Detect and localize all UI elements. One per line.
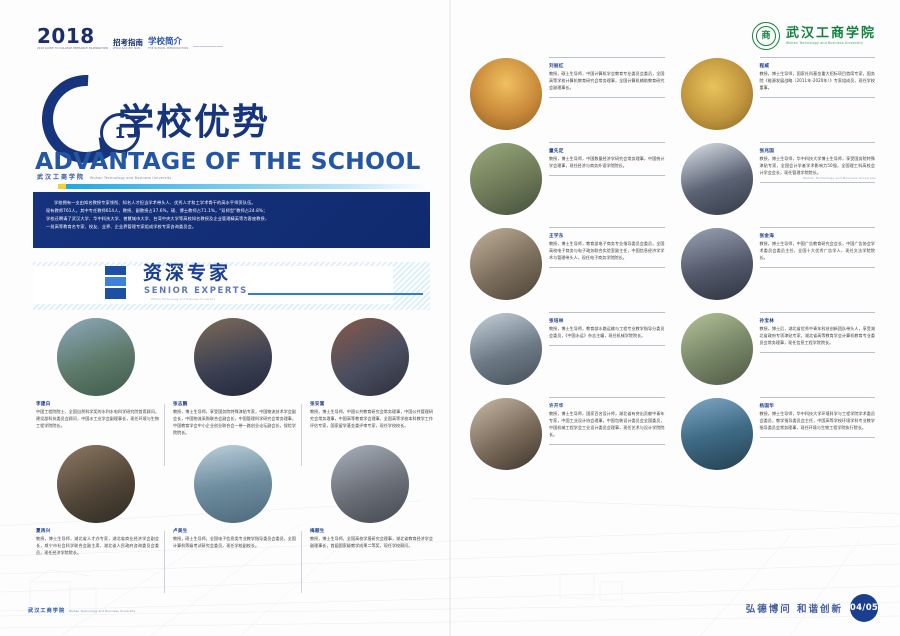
running-head-label-1: 招考指南 — [113, 39, 143, 47]
seal-character: 商 — [761, 32, 770, 41]
running-head-label-1-sub: ZHAO KAO ZHI NAN — [113, 47, 143, 50]
accent-bar — [58, 184, 430, 189]
expert-card: 张金海 教授，博士生导师，中国广告教育研究会会长，中国广告协会学术委员会委员主任… — [681, 228, 876, 300]
book-icon — [105, 266, 132, 300]
expert-card: 夏再兴 教授，博士生导师，湖北省人才办专家，湖北省商业经济学会副会长，咸宁市社会… — [33, 445, 159, 557]
expert-card: 张志鹏 教授，博士生导师，享受国务院特殊津贴专家，中国物流技术学会副会长，中国物… — [170, 318, 296, 437]
expert-card: 王学东 教授，博士生导师，教育部电子商务专业指导委员会委员，全国高校电子商务与电… — [470, 228, 665, 300]
expert-bio: 教授，博士生导师，中国数量经济学研究会常务理事，中国统计学会理事，现任经济与商务… — [549, 156, 665, 170]
expert-card: 孙宝林 教授，博士后，湖北省优秀中青年科技创新团队带头人，享受湖北省政府专项津贴… — [681, 313, 876, 385]
expert-bio: 教授，博士生导师，中国公共教育研究会常务理事，中国公共管理研究会常务理事，中国高… — [310, 409, 433, 430]
expert-name: 夏再兴 — [36, 528, 159, 534]
card-divider — [164, 404, 165, 466]
brochure-page: 2018 2018 GUIDE TO COLLEGE ENTRANCE EXAM… — [0, 0, 900, 636]
page-title-sub-cn: 武汉工商学院 — [37, 172, 85, 181]
expert-card: 卢美生 教授，硕士生导师，全国电子信息类专业教学指导委员会委员，全国计算机等级考… — [170, 445, 296, 557]
expert-bio: 教授，博士生导师，华中科技大学博士生导师，享受国务院特殊津贴专家，全国会计学者学… — [760, 156, 876, 177]
expert-photo — [470, 58, 542, 130]
expert-photo — [194, 445, 272, 523]
footer-slogan: 弘德博问 和谐创新 — [746, 601, 843, 615]
running-head-year: 2018 — [37, 26, 108, 46]
expert-card: 杨国华 教授，博士生导师，华中科技大学环境科学与工程学院学术委员会委员，教学指导… — [681, 398, 876, 470]
expert-card: 李建白 中国工程院院士、全国自然科学奖的水利水电科学研究院首席顾问，建设部科技委… — [33, 318, 159, 437]
footer-left: 武汉工商学院 Wuhan Technology and Business Uni… — [28, 607, 135, 614]
section-header-senior-experts: 资深专家 SENIOR EXPERTS Wuhan Technology and… — [33, 262, 430, 310]
expert-card: 程威 教授，博士生导师，国家社科基金重大招标项目首席专家，国务院《能源发展战略（… — [681, 58, 876, 130]
university-name-cn: 武汉工商学院 — [786, 27, 876, 40]
accent-bar-yellow — [58, 184, 66, 189]
intro-panel: 学校拥有一支由知名教授专家领衔、知名人才担当学术带头人、优秀人才和工学术骨干的高… — [33, 192, 430, 248]
footer-right: 弘德博问 和谐创新 04/05 — [746, 594, 878, 622]
expert-grid-left: 李建白 中国工程院院士、全国自然科学奖的水利水电科学研究院首席顾问，建设部科技委… — [33, 318, 433, 557]
expert-bio: 教授，硕士生导师，中国计算机学会教育专业委员会委员，全国高等学校计算机教育研究会… — [549, 71, 665, 92]
section-title-cn: 资深专家 — [143, 264, 231, 283]
expert-photo — [57, 318, 135, 396]
expert-photo — [331, 318, 409, 396]
running-head-rule — [193, 46, 223, 47]
expert-bio: 教授，博士生导师，国家社科基金重大招标项目首席专家，国务院《能源发展战略（201… — [760, 71, 876, 92]
university-seal-icon: 商 — [752, 22, 780, 50]
expert-bio: 教授，博士生导师，享受国务院特殊津贴专家，中国物流技术学会副会长，中国物流采购联… — [173, 409, 296, 437]
expert-name: 张金海 — [760, 233, 876, 239]
expert-name: 张兆国 — [760, 148, 876, 154]
expert-name: 张安富 — [310, 401, 433, 407]
page-title-cn: 学校优势 — [118, 105, 270, 141]
footer-university-en: Wuhan Technology and Business University — [69, 609, 135, 613]
expert-photo — [470, 143, 542, 215]
expert-name: 刘丽红 — [549, 63, 665, 69]
card-divider — [301, 404, 302, 466]
page-title-en: ADVANTAGE OF THE SCHOOL — [35, 150, 421, 174]
expert-bio: 教授，博士生导师，全国高校学报研究会理事，湖北省教育经济学会副理事长，首届国家级… — [310, 536, 433, 550]
expert-photo — [331, 445, 409, 523]
expert-name: 程威 — [760, 63, 876, 69]
expert-photo — [681, 313, 753, 385]
expert-bio: 教授，博士生导师，国家百名设计师，湖北省有突出贡献中青年专家，中国工业设计协会理… — [549, 411, 665, 439]
expert-photo — [681, 143, 753, 215]
expert-bio: 教授，博士生导师，教育部电子商务专业指导委员会委员，全国高校电子商务与电子政务联… — [549, 241, 665, 262]
expert-bio: 教授，博士生导师，华中科技大学环境科学与工程学院学术委员会委员，教学指导委员会主… — [760, 411, 876, 432]
expert-name: 张志鹏 — [173, 401, 296, 407]
intro-paragraph: 一批高等教育名专家、校友、业界、企业界管理专家组成学校专家咨询委员会。 — [46, 223, 419, 231]
expert-card: 许开华 教授，博士生导师，国家百名设计师，湖北省有突出贡献中青年专家，中国工业设… — [470, 398, 665, 470]
expert-name: 孙宝林 — [760, 318, 876, 324]
card-divider — [164, 531, 165, 593]
expert-name: 许开华 — [549, 403, 665, 409]
intro-paragraph: 学校拥有一支由知名教授专家领衔、知名人才担当学术带头人、优秀人才和工学术骨干的高… — [46, 199, 419, 207]
running-head-label-2-sub: THE SCHOOL INTRODUCTION — [148, 47, 188, 50]
university-name-en: Wuhan Technology and Business University — [786, 41, 876, 45]
university-logo: 商 武汉工商学院 Wuhan Technology and Business U… — [752, 22, 876, 50]
expert-photo — [470, 228, 542, 300]
accent-bar-blue — [66, 184, 430, 189]
expert-photo — [681, 398, 753, 470]
section-title-tiny-en: Wuhan Technology and Business University — [151, 298, 215, 301]
expert-photo — [194, 318, 272, 396]
expert-name: 王学东 — [549, 233, 665, 239]
expert-card: 刘丽红 教授，硕士生导师，中国计算机学会教育专业委员会委员，全国高等学校计算机教… — [470, 58, 665, 130]
running-head: 2018 2018 GUIDE TO COLLEGE ENTRANCE EXAM… — [37, 26, 223, 50]
expert-card: 张兆国 教授，博士生导师，华中科技大学博士生导师，享受国务院特殊津贴专家，全国会… — [681, 143, 876, 215]
expert-photo — [681, 58, 753, 130]
running-head-label-2: 学校简介 — [148, 38, 188, 47]
expert-photo — [470, 313, 542, 385]
expert-photo — [470, 398, 542, 470]
expert-bio: 教授，硕士生导师，全国电子信息类专业教学指导委员会委员，全国计算机等级考试研究会… — [173, 536, 296, 550]
expert-name: 梅顺生 — [310, 528, 433, 534]
expert-photo — [681, 228, 753, 300]
page-title-sub: 武汉工商学院 Wuhan Technology and Business Uni… — [37, 172, 172, 181]
expert-name: 卢美生 — [173, 528, 296, 534]
expert-bio: 中国工程院院士、全国自然科学奖的水利水电科学研究院首席顾问，建设部科技委员会顾问… — [36, 409, 159, 430]
section-title-en: SENIOR EXPERTS — [144, 287, 248, 296]
expert-card: 张安富 教授，博士生导师，中国公共教育研究会常务理事，中国公共管理研究会常务理事… — [307, 318, 433, 437]
footer-university-cn: 武汉工商学院 — [28, 607, 65, 614]
page-spine — [449, 0, 451, 636]
expert-card: 梅顺生 教授，博士生导师，全国高校学报研究会理事，湖北省教育经济学会副理事长，首… — [307, 445, 433, 557]
page-number-badge: 04/05 — [850, 594, 878, 622]
expert-photo — [57, 445, 135, 523]
expert-bio: 教授，博士生导师，教育部水路运输与工程专业教学指导分委员会委员，《中国水运》杂志… — [549, 326, 665, 340]
expert-card: 童先定 教授，博士生导师，中国数量经济学研究会常务理事，中国统计学会理事，现任经… — [470, 143, 665, 215]
card-divider — [301, 531, 302, 593]
expert-card: 张培林 教授，博士生导师，教育部水路运输与工程专业教学指导分委员会委员，《中国水… — [470, 313, 665, 385]
expert-name: 李建白 — [36, 401, 159, 407]
expert-grid-right: 刘丽红 教授，硕士生导师，中国计算机学会教育专业委员会委员，全国高等学校计算机教… — [470, 58, 875, 470]
intro-paragraph: 学校还聘请了武汉大学、华中科技大学、曾慧城市大学、台湾中央大学等高校知名教授及企… — [46, 215, 419, 223]
expert-name: 张培林 — [549, 318, 665, 324]
expert-name: 童先定 — [549, 148, 665, 154]
intro-paragraph: 现有教师761人，其中专任教师614人，教授、副教授占37.6%，硕、博士教师占… — [46, 207, 419, 215]
expert-bio: 教授，博士生导师，湖北省人才办专家，湖北省商业经济学会副会长，咸宁市社会科学联合… — [36, 536, 159, 557]
page-title-sub-en: Wuhan Technology and Business University — [90, 176, 172, 180]
expert-name: 杨国华 — [760, 403, 876, 409]
expert-bio: 教授，博士后，湖北省优秀中青年科技创新团队带头人，享受湖北省政府专项津贴专家，湖… — [760, 326, 876, 347]
expert-bio: 教授，博士生导师，中国广告教育研究会会长，中国广告协会学术委员会委员主任，全国十… — [760, 241, 876, 262]
running-head-year-sub: 2018 GUIDE TO COLLEGE ENTRANCE EXAMINATI… — [37, 47, 108, 50]
section-rule — [248, 293, 423, 295]
